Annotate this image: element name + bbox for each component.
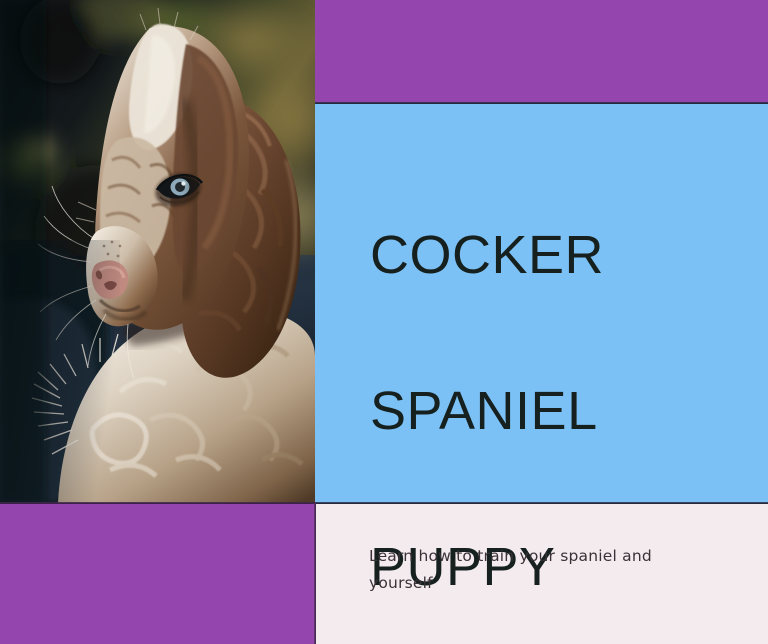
poster-canvas: COCKER SPANIEL PUPPY TRAINING Learn how … xyxy=(0,0,768,644)
puppy-photo xyxy=(0,0,315,503)
puppy-photo-illustration xyxy=(0,0,315,503)
headline-line-2: SPANIEL xyxy=(370,372,760,450)
purple-band-top xyxy=(315,0,768,103)
divider-vertical xyxy=(314,503,316,644)
headline-line-1: COCKER xyxy=(370,216,760,294)
divider-bottom-left xyxy=(0,502,316,504)
divider-top xyxy=(315,102,768,104)
purple-band-bottom xyxy=(0,504,315,644)
poster-subtitle: Learn how to train your spaniel and your… xyxy=(369,543,719,597)
